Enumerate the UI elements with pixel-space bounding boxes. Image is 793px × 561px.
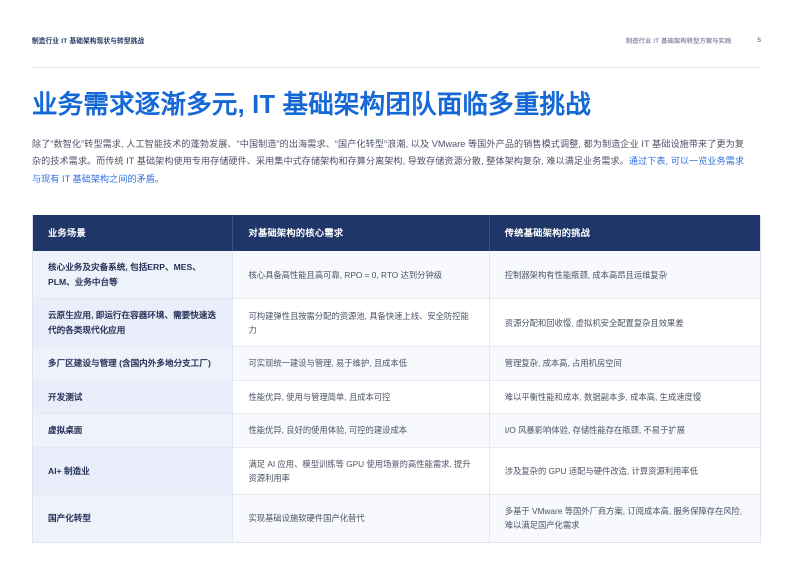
table-row: AI+ 制造业 满足 AI 应用、模型训练等 GPU 使用场景的高性能需求, 提… bbox=[33, 448, 760, 495]
cell-requirement: 核心具备高性能且高可靠, RPO = 0, RTO 达到分钟级 bbox=[232, 251, 488, 298]
table-header-requirement: 对基础架构的核心需求 bbox=[232, 215, 488, 251]
running-head-right-group: 制造行业 IT 基础架构转型方案与实践 5 bbox=[626, 36, 761, 45]
comparison-table: 业务场景 对基础架构的核心需求 传统基础架构的挑战 核心业务及灾备系统, 包括E… bbox=[32, 215, 761, 543]
document-page: 制造行业 IT 基础架构现状与转型挑战 制造行业 IT 基础架构转型方案与实践 … bbox=[0, 0, 793, 561]
cell-challenge: 资源分配和回收慢, 虚拟机安全配置复杂且效果差 bbox=[489, 299, 760, 346]
running-head: 制造行业 IT 基础架构现状与转型挑战 制造行业 IT 基础架构转型方案与实践 … bbox=[32, 33, 761, 47]
table-row: 国产化转型 实现基础设施软硬件国产化替代 多基于 VMware 等国外厂商方案,… bbox=[33, 495, 760, 541]
cell-challenge: 难以平衡性能和成本, 数据副本多, 成本高, 生成速度慢 bbox=[489, 381, 760, 414]
cell-scenario: AI+ 制造业 bbox=[33, 448, 232, 494]
table-row: 多厂区建设与管理 (含国内外多地分支工厂) 可实现统一建设与管理, 易于维护, … bbox=[33, 347, 760, 381]
cell-requirement: 可构建弹性且按需分配的资源池, 具备快速上线、安全防控能力 bbox=[232, 299, 488, 346]
table-header-scenario: 业务场景 bbox=[33, 215, 232, 251]
cell-requirement: 可实现统一建设与管理, 易于维护, 且成本低 bbox=[232, 347, 488, 380]
cell-challenge: 涉及复杂的 GPU 适配与硬件改造, 计算资源利用率低 bbox=[489, 448, 760, 494]
cell-scenario: 多厂区建设与管理 (含国内外多地分支工厂) bbox=[33, 347, 232, 380]
page-title: 业务需求逐渐多元, IT 基础架构团队面临多重挑战 bbox=[32, 84, 591, 121]
cell-requirement: 性能优异, 良好的使用体验, 可控的建设成本 bbox=[232, 414, 488, 447]
table-row: 云原生应用, 即运行在容器环境、需要快速迭代的各类现代化应用 可构建弹性且按需分… bbox=[33, 299, 760, 347]
page-number: 5 bbox=[757, 37, 761, 44]
cell-scenario: 国产化转型 bbox=[33, 495, 232, 541]
table-row: 虚拟桌面 性能优异, 良好的使用体验, 可控的建设成本 I/O 风暴影响体验, … bbox=[33, 414, 760, 448]
header-divider bbox=[32, 67, 761, 68]
cell-scenario: 虚拟桌面 bbox=[33, 414, 232, 447]
cell-requirement: 满足 AI 应用、模型训练等 GPU 使用场景的高性能需求, 提升资源利用率 bbox=[232, 448, 488, 494]
cell-scenario: 核心业务及灾备系统, 包括ERP、MES、PLM、业务中台等 bbox=[33, 251, 232, 298]
cell-requirement: 性能优异, 使用与管理简单, 且成本可控 bbox=[232, 381, 488, 414]
cell-scenario: 云原生应用, 即运行在容器环境、需要快速迭代的各类现代化应用 bbox=[33, 299, 232, 346]
cell-scenario: 开发测试 bbox=[33, 381, 232, 414]
cell-challenge: 多基于 VMware 等国外厂商方案, 订阅成本高, 服务保障存在风险, 难以满… bbox=[489, 495, 760, 541]
cell-requirement: 实现基础设施软硬件国产化替代 bbox=[232, 495, 488, 541]
cell-challenge: 控制器架构有性能瓶颈, 成本高昂且运维复杂 bbox=[489, 251, 760, 298]
running-head-left: 制造行业 IT 基础架构现状与转型挑战 bbox=[32, 35, 144, 45]
intro-paragraph: 除了“数智化”转型需求, 人工智能技术的蓬勃发展、“中国制造”的出海需求、“国产… bbox=[32, 136, 744, 188]
table-header-challenge: 传统基础架构的挑战 bbox=[489, 215, 760, 251]
table-row: 开发测试 性能优异, 使用与管理简单, 且成本可控 难以平衡性能和成本, 数据副… bbox=[33, 381, 760, 415]
table-row: 核心业务及灾备系统, 包括ERP、MES、PLM、业务中台等 核心具备高性能且高… bbox=[33, 251, 760, 299]
cell-challenge: I/O 风暴影响体验, 存储性能存在瓶颈, 不易于扩展 bbox=[489, 414, 760, 447]
running-head-right: 制造行业 IT 基础架构转型方案与实践 bbox=[626, 36, 732, 45]
table-header-row: 业务场景 对基础架构的核心需求 传统基础架构的挑战 bbox=[33, 215, 760, 251]
cell-challenge: 管理复杂, 成本高, 占用机房空间 bbox=[489, 347, 760, 380]
